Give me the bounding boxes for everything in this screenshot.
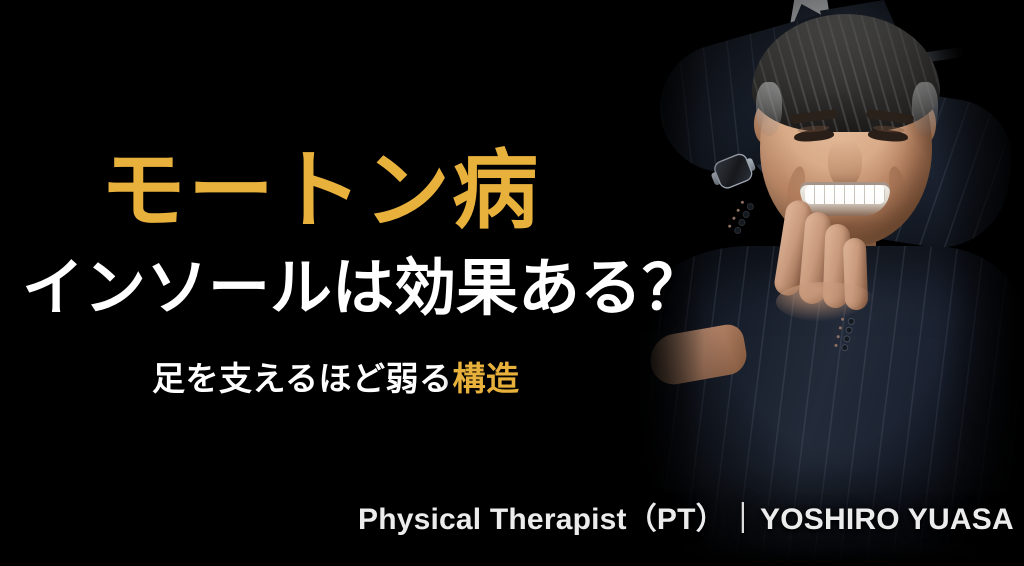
thumbnail-canvas: モートン病 インソールは効果ある？ 足を支えるほど弱る構造 Physical T… xyxy=(0,0,1024,566)
headline-title: モートン病 xyxy=(100,148,540,234)
tagline-accent: 構造 xyxy=(453,360,520,397)
temple-gray-right xyxy=(912,82,938,136)
hand-on-chin xyxy=(774,198,882,318)
credit-separator: ｜ xyxy=(726,505,760,535)
cuff-buttons-upper xyxy=(734,203,753,234)
credit-name: YOSHIRO YUASA xyxy=(760,503,1014,536)
credit-line: Physical Therapist（PT）｜YOSHIRO YUASA xyxy=(358,505,1014,535)
knuckles xyxy=(776,282,876,322)
temple-gray-left xyxy=(756,82,782,136)
credit-role: Physical Therapist（PT） xyxy=(358,503,726,536)
tagline-prefix: 足を支えるほど弱る xyxy=(152,360,453,397)
subheadline: インソールは効果ある？ xyxy=(22,258,704,320)
tagline: 足を支えるほど弱る構造 xyxy=(152,362,520,395)
nose xyxy=(828,140,862,188)
